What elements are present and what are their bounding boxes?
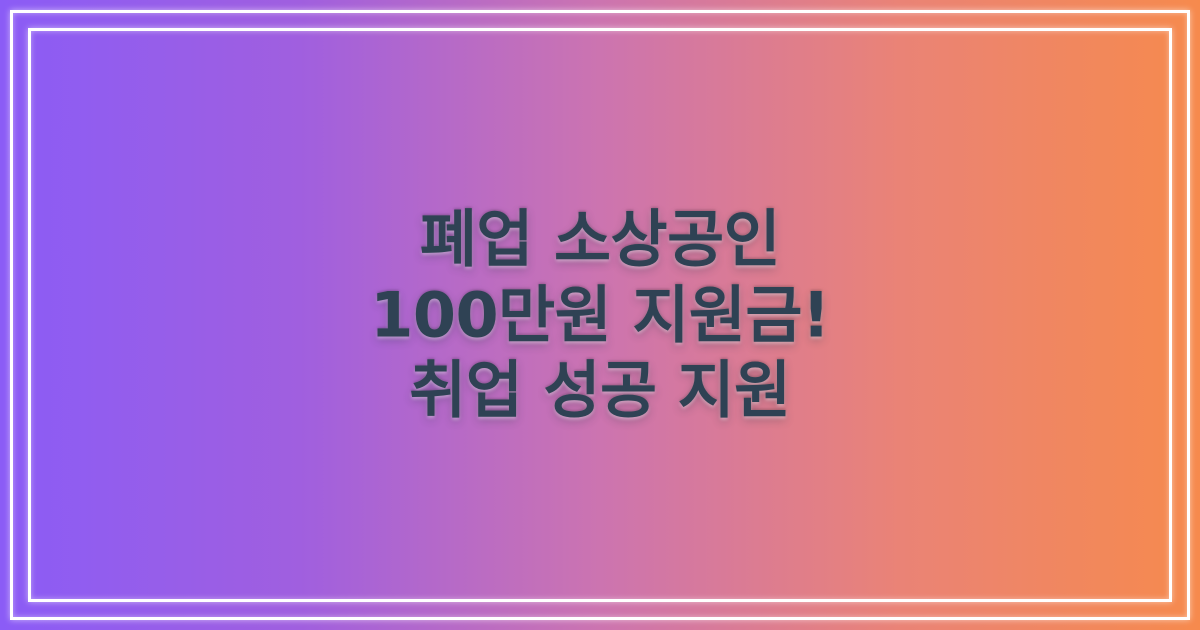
headline-line-3: 취업 성공 지원 [70,353,1130,429]
thumbnail-card: 폐업 소상공인 100만원 지원금! 취업 성공 지원 [0,0,1200,630]
headline-block: 폐업 소상공인 100만원 지원금! 취업 성공 지원 [0,202,1200,429]
headline-line-1: 폐업 소상공인 [70,202,1130,278]
headline-line-2: 100만원 지원금! [70,277,1130,353]
